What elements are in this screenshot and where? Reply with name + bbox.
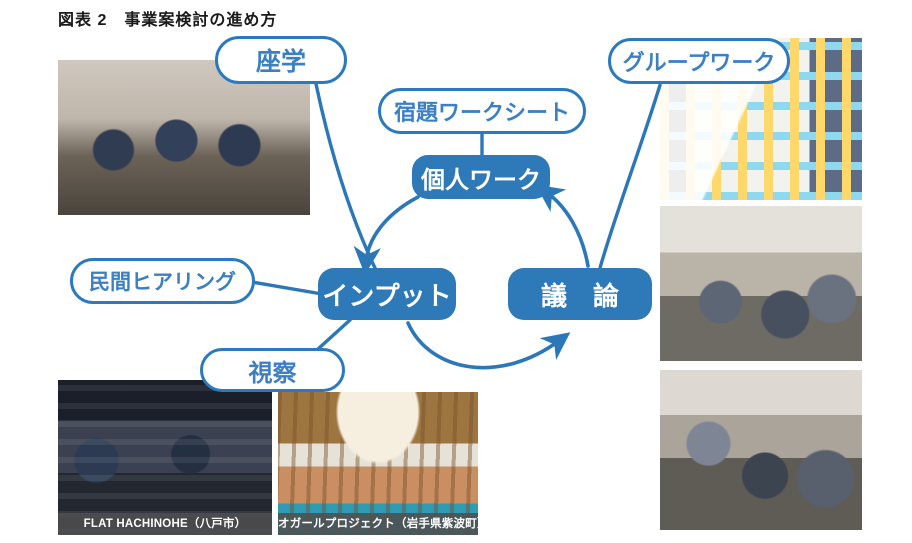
photo-ogal-project: オガールプロジェクト（岩手県紫波町） — [278, 392, 478, 535]
node-label: 民間ヒアリング — [89, 266, 236, 296]
node-label: 視察 — [249, 353, 297, 388]
node-minkan-hearing[interactable]: 民間ヒアリング — [70, 258, 255, 304]
figure-canvas: 図表 2 事業案検討の進め方 FLAT HACHINOHE（八戸市） オガールプ… — [0, 0, 912, 543]
node-group-work[interactable]: グループワーク — [608, 38, 790, 84]
link-giron-to-kojin — [546, 192, 588, 266]
link-shisatsu-to-input — [318, 320, 350, 349]
node-kojin-work[interactable]: 個人ワーク — [412, 155, 550, 199]
photo-flat-hachinohe: FLAT HACHINOHE（八戸市） — [58, 380, 272, 535]
link-groupwork-to-giron — [600, 85, 660, 268]
node-giron[interactable]: 議 論 — [508, 268, 652, 320]
node-label: 宿題ワークシート — [394, 95, 570, 127]
photo-meeting-presentation — [660, 206, 862, 361]
node-label: インプット — [322, 276, 451, 313]
node-label: グループワーク — [623, 45, 776, 77]
node-label: 座学 — [256, 42, 306, 78]
link-zagaku-to-input — [316, 84, 375, 268]
photo-image — [660, 370, 862, 530]
link-minkan-to-input — [252, 282, 322, 294]
page-title: 図表 2 事業案検討の進め方 — [58, 6, 277, 30]
photo-meeting-discussion — [660, 370, 862, 530]
link-input-to-giron — [408, 323, 560, 368]
node-shukudai-worksheet[interactable]: 宿題ワークシート — [378, 88, 586, 134]
photo-image — [58, 380, 272, 535]
node-input[interactable]: インプット — [318, 268, 456, 320]
link-kojin-to-input — [366, 197, 418, 262]
node-shisatsu[interactable]: 視察 — [200, 348, 345, 392]
photo-image — [660, 206, 862, 361]
node-zagaku[interactable]: 座学 — [215, 36, 347, 84]
photo-caption: オガールプロジェクト（岩手県紫波町） — [278, 513, 478, 535]
node-label: 個人ワーク — [421, 160, 541, 195]
photo-caption: FLAT HACHINOHE（八戸市） — [58, 513, 272, 535]
node-label: 議 論 — [541, 276, 619, 313]
